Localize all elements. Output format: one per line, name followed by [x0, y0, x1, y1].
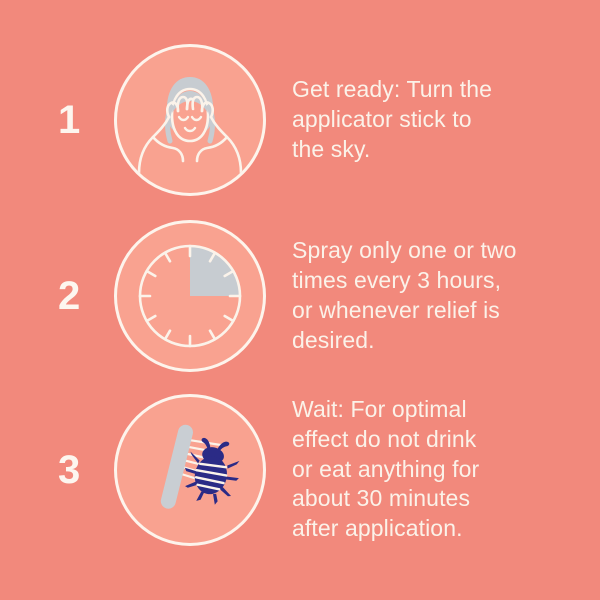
step-text-line: times every 3 hours,: [292, 266, 580, 296]
step-number-2: 2: [58, 276, 110, 316]
step-text-line: about 30 minutes: [292, 484, 580, 514]
step-text-3: Wait: For optimal effect do not drink or…: [270, 395, 600, 544]
step-icon-2: [110, 216, 270, 376]
step-row: 3: [0, 382, 600, 557]
step-text-line: or whenever relief is: [292, 296, 580, 326]
step-text-1: Get ready: Turn the applicator stick to …: [270, 75, 600, 165]
step-text-line: effect do not drink: [292, 425, 580, 455]
clock-quarter-hour-icon: [125, 231, 255, 361]
instructions-infographic: 1: [0, 0, 600, 600]
icon-circle: [114, 394, 266, 546]
step-text-line: after application.: [292, 514, 580, 544]
step-text-2: Spray only one or two times every 3 hour…: [270, 236, 600, 356]
step-row: 1: [0, 30, 600, 210]
icon-circle: [114, 44, 266, 196]
step-row: 2: [0, 210, 600, 382]
icon-circle: [114, 220, 266, 372]
step-number-1: 1: [58, 100, 110, 140]
step-text-line: Spray only one or two: [292, 236, 580, 266]
step-text-line: Get ready: Turn the: [292, 75, 580, 105]
step-text-line: Wait: For optimal: [292, 395, 580, 425]
step-text-line: the sky.: [292, 135, 580, 165]
step-icon-3: [110, 390, 270, 550]
step-icon-1: [110, 40, 270, 200]
comb-with-louse-icon: [125, 405, 255, 535]
step-text-line: desired.: [292, 326, 580, 356]
step-number-3: 3: [58, 450, 110, 490]
woman-scratching-head-icon: [125, 55, 255, 185]
step-text-line: applicator stick to: [292, 105, 580, 135]
step-text-line: or eat anything for: [292, 455, 580, 485]
